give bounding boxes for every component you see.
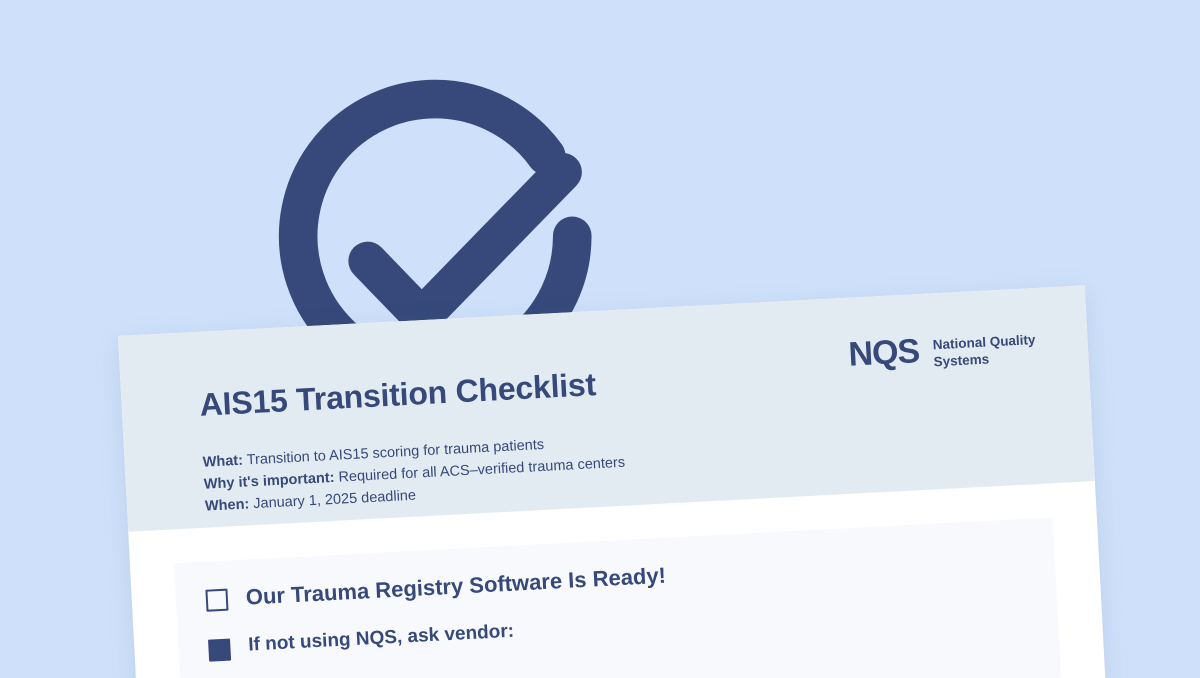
brand-mark-text: NQS [848,334,920,372]
document-body: Our Trauma Registry Software Is Ready! I… [130,515,1106,678]
header-row: AIS15 Transition Checklist NQS National … [198,322,1038,423]
list-item-label: Our Trauma Registry Software Is Ready! [245,562,666,611]
checkbox-icon[interactable] [205,589,228,612]
list-item-label: If not using NQS, ask vendor: [248,619,515,657]
screenshot-canvas: AIS15 Transition Checklist NQS National … [0,0,1200,678]
nqs-logo: NQS National Quality Systems [847,322,1037,376]
page-title: AIS15 Transition Checklist [199,367,597,423]
checklist-document-card: AIS15 Transition Checklist NQS National … [118,285,1106,678]
checklist-panel: Our Trauma Registry Software Is Ready! I… [174,517,1062,678]
meta-label: Why it's important: [203,470,334,493]
brand-wordmark: National Quality Systems [932,328,1037,371]
document-header: AIS15 Transition Checklist NQS National … [118,285,1095,531]
document-meta-list: What: Transition to AIS15 scoring for tr… [202,409,1042,518]
meta-label: When: [205,496,250,514]
checkbox-icon[interactable] [208,638,231,661]
meta-label: What: [202,453,243,471]
